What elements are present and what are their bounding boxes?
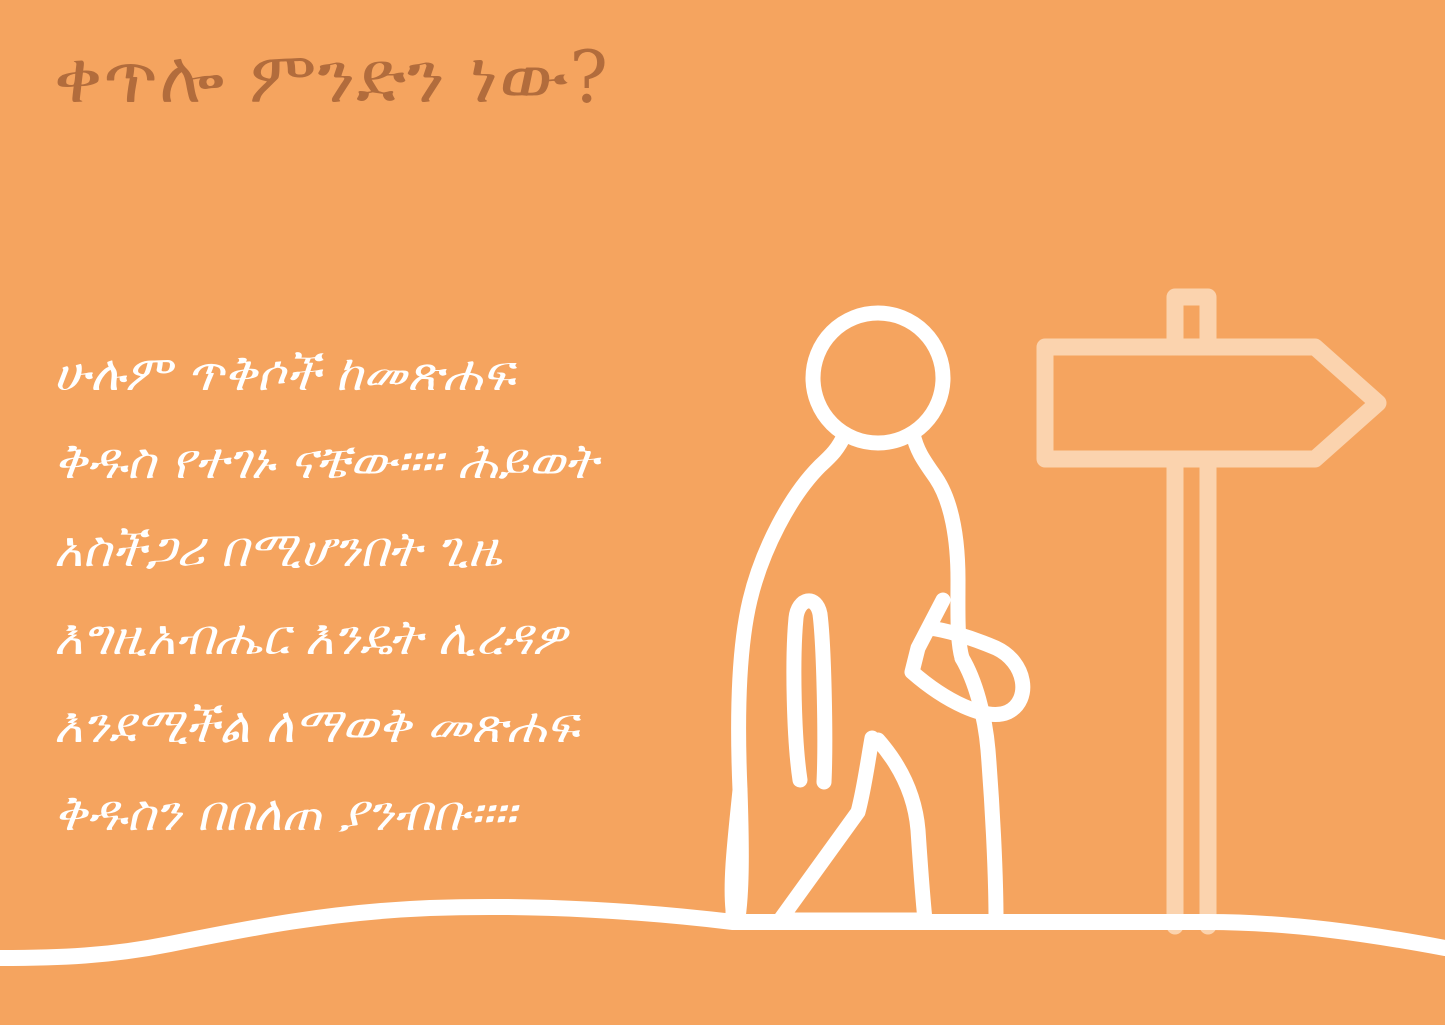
slide-canvas: ቀጥሎ ምንድን ነው? ሁሉም ጥቅሶች ከመጽሐፍ ቅዱስ የተገኑ ናቼው…: [0, 0, 1445, 1025]
signpost-post-shaft: [1175, 459, 1208, 926]
signpost-icon: [1045, 297, 1378, 926]
body-line: አስችጋሪ በሚሆንበት ጊዜ: [54, 506, 734, 594]
person-left-arm: [794, 601, 825, 782]
walking-person-icon: [732, 313, 1023, 922]
body-line: እንደሚችል ለማወቅ መጽሐፍ: [54, 682, 734, 770]
ground-line: [0, 907, 1445, 958]
body-line: ቅዱስ የተገኑ ናቼው።። ሕይወት: [54, 418, 734, 506]
person-head: [813, 313, 943, 443]
body-line: ሁሉም ጥቅሶች ከመጽሐፍ: [54, 330, 734, 418]
body-line: ቅዱስን በበለጠ ያንብቡ።።: [54, 770, 734, 858]
body-line: እግዚአብሔር እንዴት ሊረዳዎ: [54, 594, 734, 682]
signpost-arrow-board: [1045, 347, 1378, 459]
page-title: ቀጥሎ ምንድን ነው?: [54, 34, 954, 120]
person-rear-leg: [962, 658, 996, 920]
body-paragraph: ሁሉም ጥቅሶች ከመጽሐፍ ቅዱስ የተገኑ ናቼው።። ሕይወት አስችጋሪ…: [54, 330, 734, 858]
